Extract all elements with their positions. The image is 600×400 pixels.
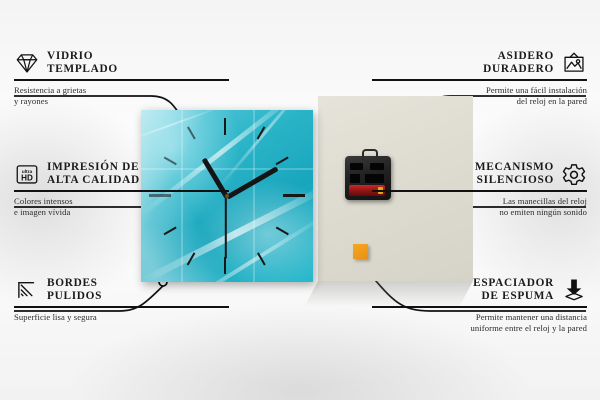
gear-icon [561,161,587,187]
feature-title-line2: SILENCIOSO [475,174,554,187]
feature-title-line1: BORDES [47,277,102,290]
feature-title-line1: VIDRIO [47,50,118,63]
feature-desc-line1: Permite una fácil instalación [372,85,587,97]
feature-title-line1: IMPRESIÓN DE [47,161,140,174]
minute-hand [226,166,279,199]
feature-impresion-alta-calidad: ultra HD IMPRESIÓN DE ALTA CALIDAD Color… [14,161,229,219]
feature-desc-line2: y rayones [14,96,229,108]
feature-title-line2: DE ESPUMA [473,290,554,303]
feature-title-line2: ALTA CALIDAD [47,174,140,187]
feature-desc-line2: uniforme entre el reloj y la pared [372,323,587,335]
feature-desc-line1: Las manecillas del reloj [372,196,587,208]
polished-edges-icon [14,277,40,303]
diamond-icon [14,50,40,76]
feature-bordes-pulidos: BORDES PULIDOS Superficie lisa y segura [14,277,229,323]
svg-text:HD: HD [21,174,33,183]
feature-desc-line1: Superficie lisa y segura [14,312,229,324]
divider [372,190,587,191]
feature-desc-line1: Permite mantener una distancia [372,312,587,324]
feature-desc-line1: Colores intensos [14,196,229,208]
foam-spacer [353,244,368,259]
feature-title-line1: ESPACIADOR [473,277,554,290]
divider [14,79,229,80]
ultra-hd-badge-icon: ultra HD [14,161,40,187]
feature-desc-line2: no emiten ningún sonido [372,207,587,219]
feature-desc-line2: del reloj en la pared [372,96,587,108]
feature-mecanismo-silencioso: MECANISMO SILENCIOSO Las manecillas del … [372,161,587,219]
picture-hanger-icon [561,50,587,76]
feature-title-line1: MECANISMO [475,161,554,174]
feature-desc-line2: e imagen vívida [14,207,229,219]
divider [14,306,229,307]
feature-title-line1: ASIDERO [483,50,554,63]
feature-espaciador-espuma: ESPACIADOR DE ESPUMA Permite mantener un… [372,277,587,335]
feature-title-line2: TEMPLADO [47,63,118,76]
feature-vidrio-templado: VIDRIO TEMPLADO Resistencia a grietas y … [14,50,229,108]
feature-title-line2: PULIDOS [47,290,102,303]
feature-asidero-duradero: ASIDERO DURADERO Permite una fácil insta… [372,50,587,108]
divider [14,190,229,191]
feature-desc-line1: Resistencia a grietas [14,85,229,97]
divider [372,79,587,80]
product-infographic: VIDRIO TEMPLADO Resistencia a grietas y … [0,0,600,400]
foam-spacer-arrow-icon [561,277,587,303]
divider [372,306,587,307]
feature-title-line2: DURADERO [483,63,554,76]
